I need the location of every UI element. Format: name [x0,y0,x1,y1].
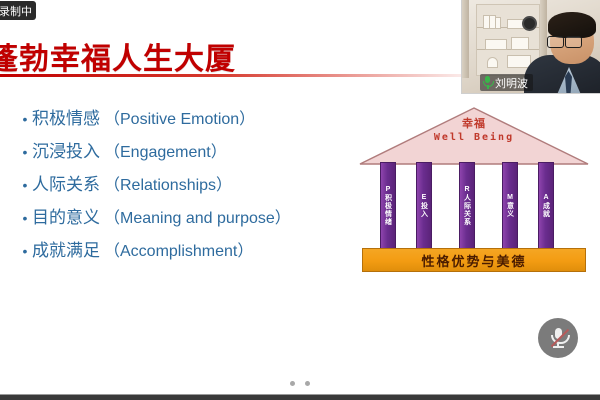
list-item-en: （Meaning and purpose） [104,204,291,228]
list-item-en: （Positive Emotion） [104,105,255,129]
pagination-dots[interactable] [0,381,600,386]
foundation-bar: 性格优势与美德 [362,248,586,272]
bottom-edge-strip [0,394,600,400]
pillar-e-label: E投入 [420,194,429,218]
pagination-dot[interactable] [290,381,295,386]
screen-share-slide-view: 幸福 Well Being P积极情绪 E投入 R人际关系 M意义 A成就 性格… [0,0,600,400]
bullet-marker-icon: • [18,144,32,160]
pillar-p-label: P积极情绪 [384,186,393,226]
list-item-cn: 人际关系 [32,170,100,195]
pillar-e: E投入 [416,162,432,250]
list-item-cn: 目的意义 [32,203,100,228]
bullet-marker-icon: • [18,111,32,127]
list-item: • 成就满足 （Accomplishment） [18,236,368,261]
list-item-en: （Engagement） [104,138,227,162]
wall-camera [522,16,537,31]
list-item: • 沉浸投入 （Engagement） [18,137,368,162]
bullet-list: • 积极情感 （Positive Emotion） • 沉浸投入 （Engage… [18,104,368,269]
eyeglass-left [547,36,564,48]
pagination-dot[interactable] [305,381,310,386]
participant-name-bar: 刘明波 [480,74,533,91]
mute-toggle-button[interactable] [538,318,578,358]
microphone-on-icon [483,76,492,89]
bullet-marker-icon: • [18,177,32,193]
wellbeing-building-diagram: 幸福 Well Being P积极情绪 E投入 R人际关系 M意义 A成就 性格… [358,106,590,286]
microphone-muted-icon [550,327,567,349]
list-item-cn: 成就满足 [32,236,100,261]
bullet-marker-icon: • [18,243,32,259]
list-item-cn: 沉浸投入 [32,137,100,162]
recording-badge: 录制中 [0,1,36,20]
pillar-r: R人际关系 [459,162,475,250]
pillar-m-label: M意义 [506,194,515,218]
bullet-marker-icon: • [18,210,32,226]
pillar-p: P积极情绪 [380,162,396,250]
list-item-en: （Accomplishment） [104,237,253,261]
participant-name: 刘明波 [495,75,528,91]
participant-hair [548,12,596,38]
participant-video-tile[interactable]: 刘明波 [461,0,600,94]
page-title: 蓬勃幸福人生大厦 [0,34,236,78]
list-item-en: （Relationships） [104,171,232,195]
pillar-group: P积极情绪 E投入 R人际关系 M意义 A成就 [358,162,590,250]
eyeglass-right [565,36,582,48]
pillar-a: A成就 [538,162,554,250]
list-item: • 人际关系 （Relationships） [18,170,368,195]
pillar-a-label: A成就 [542,194,551,218]
list-item-cn: 积极情感 [32,104,100,129]
title-underline [0,74,520,77]
pillar-r-label: R人际关系 [463,186,472,226]
shelf-post-left [462,0,469,78]
pillar-m: M意义 [502,162,518,250]
roof-shape [358,106,590,168]
list-item: • 积极情感 （Positive Emotion） [18,104,368,129]
list-item: • 目的意义 （Meaning and purpose） [18,203,368,228]
